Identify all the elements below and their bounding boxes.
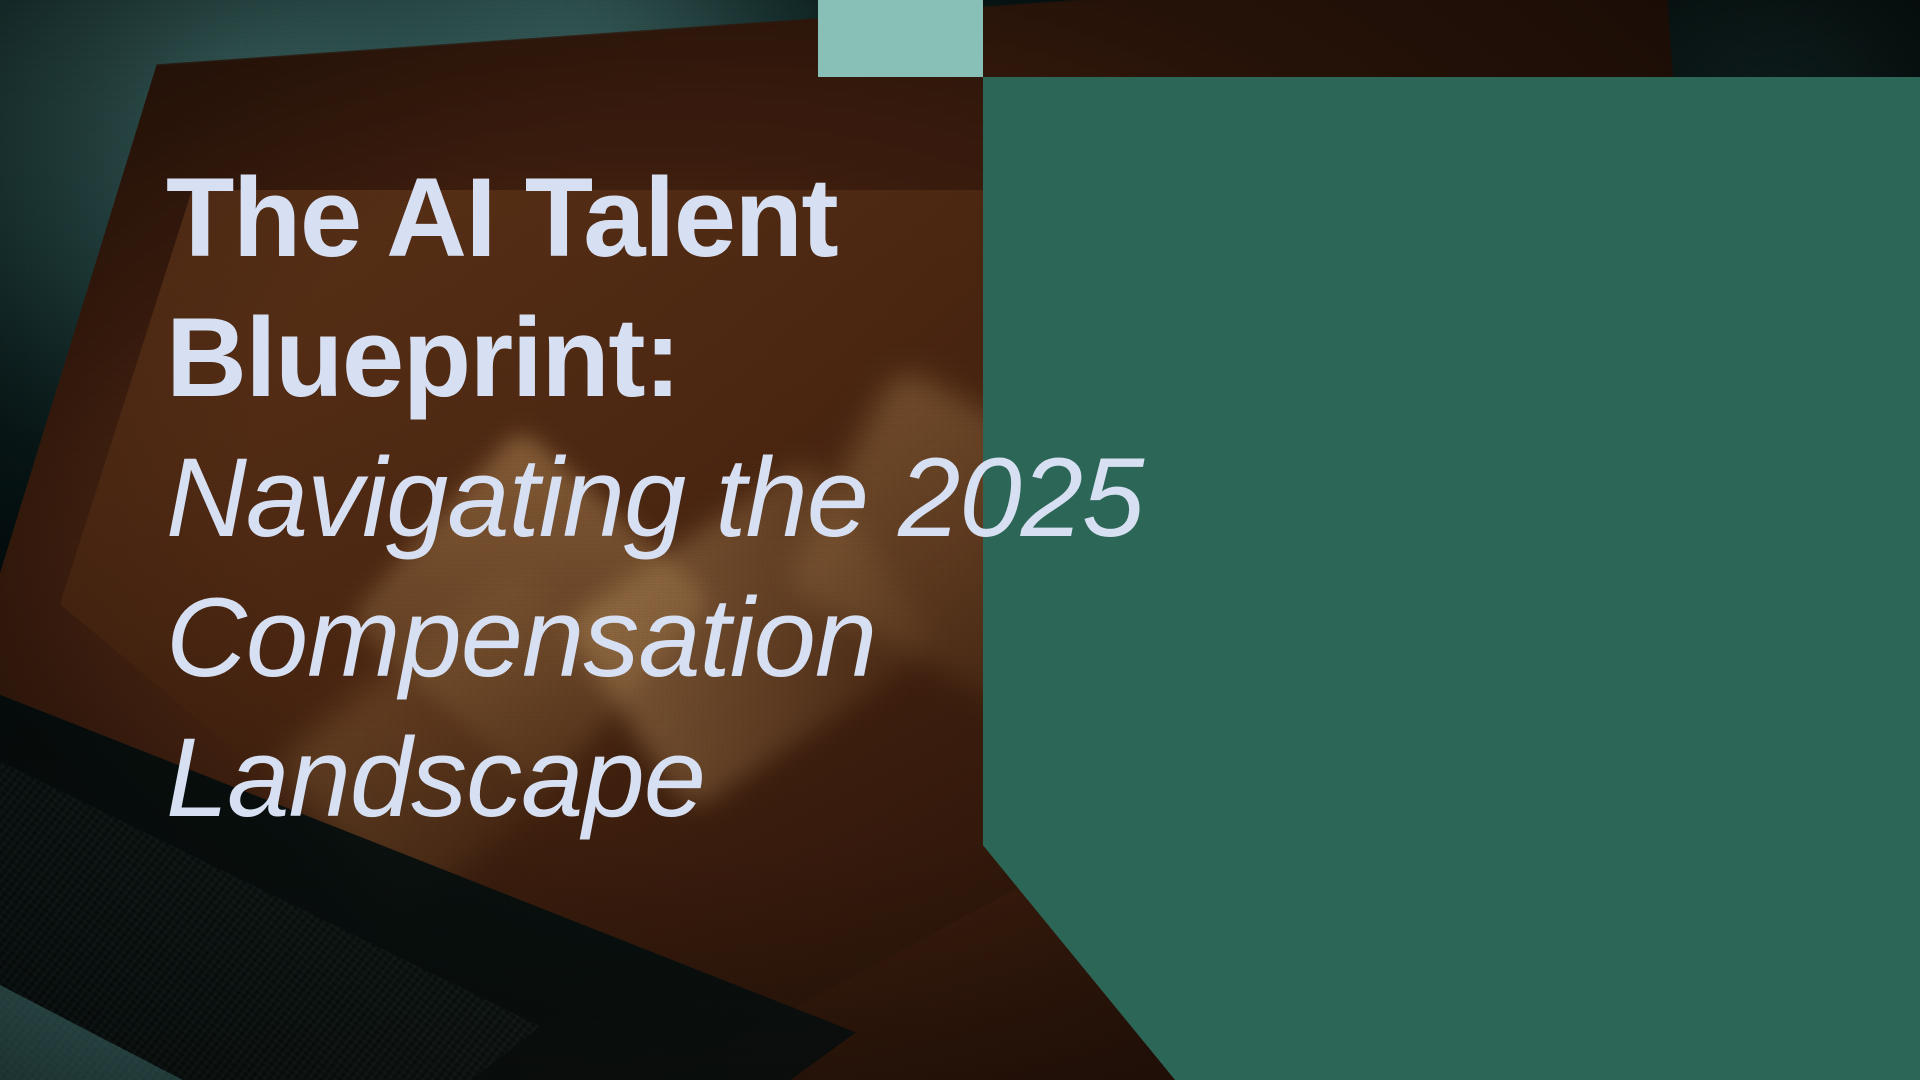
title-line-2: Blueprint: xyxy=(166,288,1886,428)
subtitle-line-1: Navigating the 2025 xyxy=(166,428,1886,568)
subtitle-line-2: Compensation xyxy=(166,568,1886,708)
subtitle-line-3: Landscape xyxy=(166,708,1886,848)
page-title: The AI Talent Blueprint: Navigating the … xyxy=(166,148,1886,848)
light-green-accent-rectangle xyxy=(818,0,983,77)
title-line-1: The AI Talent xyxy=(166,148,1886,288)
title-slide: The AI Talent Blueprint: Navigating the … xyxy=(0,0,1920,1080)
